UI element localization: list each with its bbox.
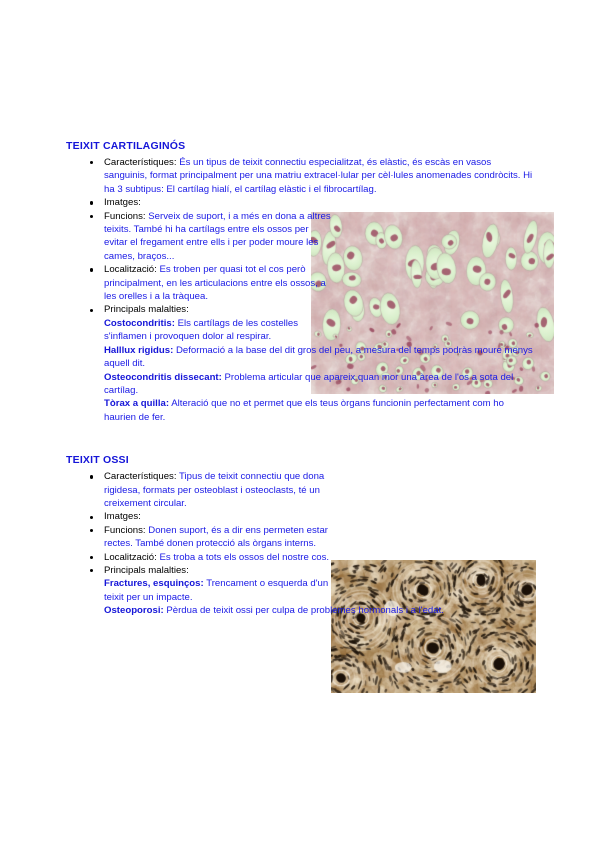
disease-item: Fractures, esquinços: Trencament o esque… (104, 577, 332, 604)
disease-description: Pèrdua de teixit ossi per culpa de probl… (166, 605, 444, 616)
section-cartilage: TEIXIT CARTILAGINÓSCaracterístiques: És … (66, 140, 534, 424)
disease-name: Tòrax a quilla: (104, 398, 169, 409)
bullet-label: Funcions: (104, 525, 146, 536)
bullet-label: Imatges: (104, 197, 141, 208)
bullet-list-cartilage: Característiques: És un tipus de teixit … (66, 156, 534, 317)
disease-item: Osteocondritis dissecant: Problema artic… (104, 371, 534, 398)
bullet-dot-icon (90, 215, 93, 218)
bullet-dot-icon (90, 516, 93, 519)
list-item: Característiques: Tipus de teixit connec… (66, 470, 332, 510)
list-item: Localització: Es troba a tots els ossos … (66, 551, 332, 564)
bullet-dot-icon (90, 529, 93, 532)
list-item: Característiques: És un tipus de teixit … (66, 156, 534, 196)
bullet-label: Principals malalties: (104, 565, 189, 576)
list-item: Imatges: (66, 510, 534, 523)
bullet-label: Característiques: (104, 471, 177, 482)
section-spacer (66, 424, 534, 454)
bullet-label: Imatges: (104, 511, 141, 522)
section-bone: TEIXIT OSSICaracterístiques: Tipus de te… (66, 454, 534, 617)
document-content: TEIXIT CARTILAGINÓSCaracterístiques: És … (66, 140, 534, 618)
document-page: TEIXIT CARTILAGINÓSCaracterístiques: És … (0, 0, 600, 848)
bullet-dot-icon (90, 556, 93, 559)
disease-item: Halllux rigidus: Deformació a la base de… (104, 344, 534, 371)
list-item: Principals malalties: (66, 303, 534, 316)
bullet-label: Principals malalties: (104, 304, 189, 315)
disease-item: Costocondritis: Els cartílags de les cos… (104, 317, 332, 344)
disease-name: Osteocondritis dissecant: (104, 372, 222, 383)
disease-list-cartilage: Costocondritis: Els cartílags de les cos… (66, 317, 534, 424)
list-item: Funcions: Donen suport, és a dir ens per… (66, 524, 332, 551)
disease-item: Osteoporosi: Pèrdua de teixit ossi per c… (104, 604, 534, 617)
list-item: Localització: Es troben per quasi tot el… (66, 263, 332, 303)
disease-name: Fractures, esquinços: (104, 578, 204, 589)
bullet-dot-icon (90, 475, 93, 478)
bullet-list-bone: Característiques: Tipus de teixit connec… (66, 470, 534, 577)
disease-item: Tòrax a quilla: Alteració que no et perm… (104, 397, 534, 424)
list-item: Principals malalties: (66, 564, 534, 577)
disease-name: Halllux rigidus: (104, 345, 173, 356)
bullet-label: Localització: (104, 264, 157, 275)
list-item: Imatges: (66, 196, 534, 209)
bullet-label: Localització: (104, 552, 157, 563)
disease-name: Costocondritis: (104, 318, 175, 329)
bullet-dot-icon (90, 201, 93, 204)
bullet-dot-icon (90, 569, 93, 572)
bullet-dot-icon (90, 309, 93, 312)
section-heading-cartilage: TEIXIT CARTILAGINÓS (66, 140, 534, 153)
bullet-label: Funcions: (104, 211, 146, 222)
disease-name: Osteoporosi: (104, 605, 164, 616)
bullet-dot-icon (90, 161, 93, 164)
disease-list-bone: Fractures, esquinços: Trencament o esque… (66, 577, 534, 617)
list-item: Funcions: Serveix de suport, i a més en … (66, 210, 332, 264)
bullet-description: Es troba a tots els ossos del nostre cos… (159, 552, 329, 563)
bullet-dot-icon (90, 268, 93, 271)
section-heading-bone: TEIXIT OSSI (66, 454, 534, 467)
bullet-label: Característiques: (104, 157, 177, 168)
